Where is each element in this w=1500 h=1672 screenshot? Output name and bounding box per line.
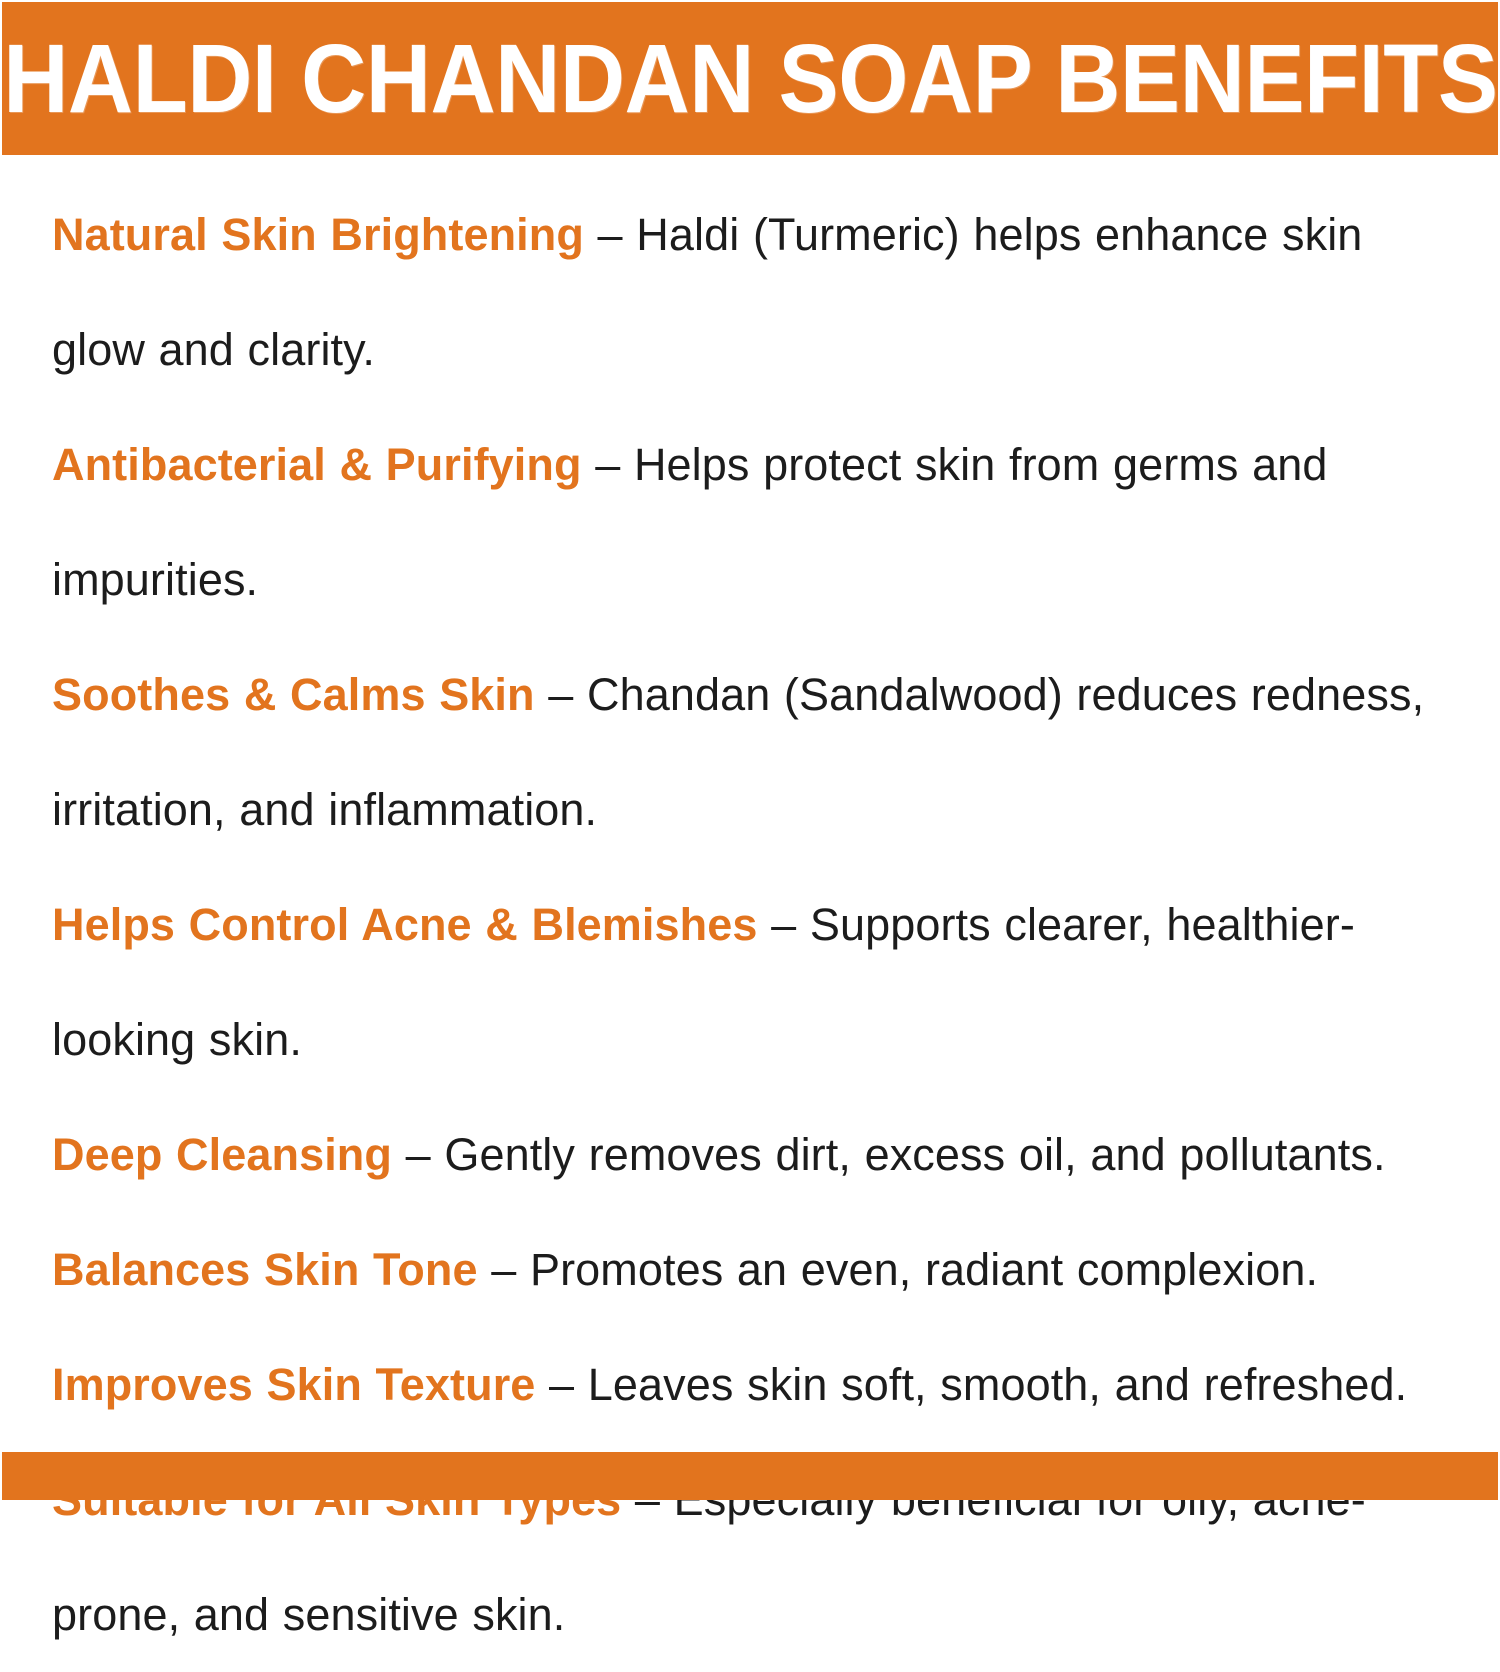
benefit-item: Natural Skin Brightening – Haldi (Turmer… bbox=[52, 177, 1452, 407]
benefit-separator: – bbox=[478, 1244, 530, 1295]
benefit-separator: – bbox=[535, 1359, 587, 1410]
page-title: HALDI CHANDAN SOAP BENEFITS bbox=[2, 30, 1498, 127]
benefit-title: Balances Skin Tone bbox=[52, 1244, 478, 1295]
benefit-title: Helps Control Acne & Blemishes bbox=[52, 899, 758, 950]
benefit-separator: – bbox=[758, 899, 810, 950]
benefit-item: Deep Cleansing – Gently removes dirt, ex… bbox=[52, 1097, 1452, 1212]
header-banner: HALDI CHANDAN SOAP BENEFITS bbox=[2, 2, 1498, 155]
benefit-description: Leaves skin soft, smooth, and refreshed. bbox=[588, 1359, 1407, 1410]
benefit-separator: – bbox=[582, 439, 634, 490]
benefit-title: Natural Skin Brightening bbox=[52, 209, 584, 260]
benefit-separator: – bbox=[392, 1129, 444, 1180]
benefit-item: Soothes & Calms Skin – Chandan (Sandalwo… bbox=[52, 637, 1452, 867]
benefit-title: Deep Cleansing bbox=[52, 1129, 392, 1180]
benefit-title: Soothes & Calms Skin bbox=[52, 669, 535, 720]
benefit-item: Improves Skin Texture – Leaves skin soft… bbox=[52, 1327, 1452, 1442]
benefit-item: Helps Control Acne & Blemishes – Support… bbox=[52, 867, 1452, 1097]
benefit-item: Balances Skin Tone – Promotes an even, r… bbox=[52, 1212, 1452, 1327]
benefit-description: Gently removes dirt, excess oil, and pol… bbox=[444, 1129, 1385, 1180]
benefit-title: Improves Skin Texture bbox=[52, 1359, 535, 1410]
benefit-separator: – bbox=[584, 209, 636, 260]
benefit-item: Antibacterial & Purifying – Helps protec… bbox=[52, 407, 1452, 637]
footer-banner bbox=[2, 1452, 1498, 1500]
benefits-infographic: HALDI CHANDAN SOAP BENEFITS Natural Skin… bbox=[0, 0, 1500, 1500]
benefit-title: Antibacterial & Purifying bbox=[52, 439, 582, 490]
benefits-list: Natural Skin Brightening – Haldi (Turmer… bbox=[0, 155, 1500, 1672]
benefit-separator: – bbox=[535, 669, 587, 720]
benefit-description: Promotes an even, radiant complexion. bbox=[530, 1244, 1318, 1295]
